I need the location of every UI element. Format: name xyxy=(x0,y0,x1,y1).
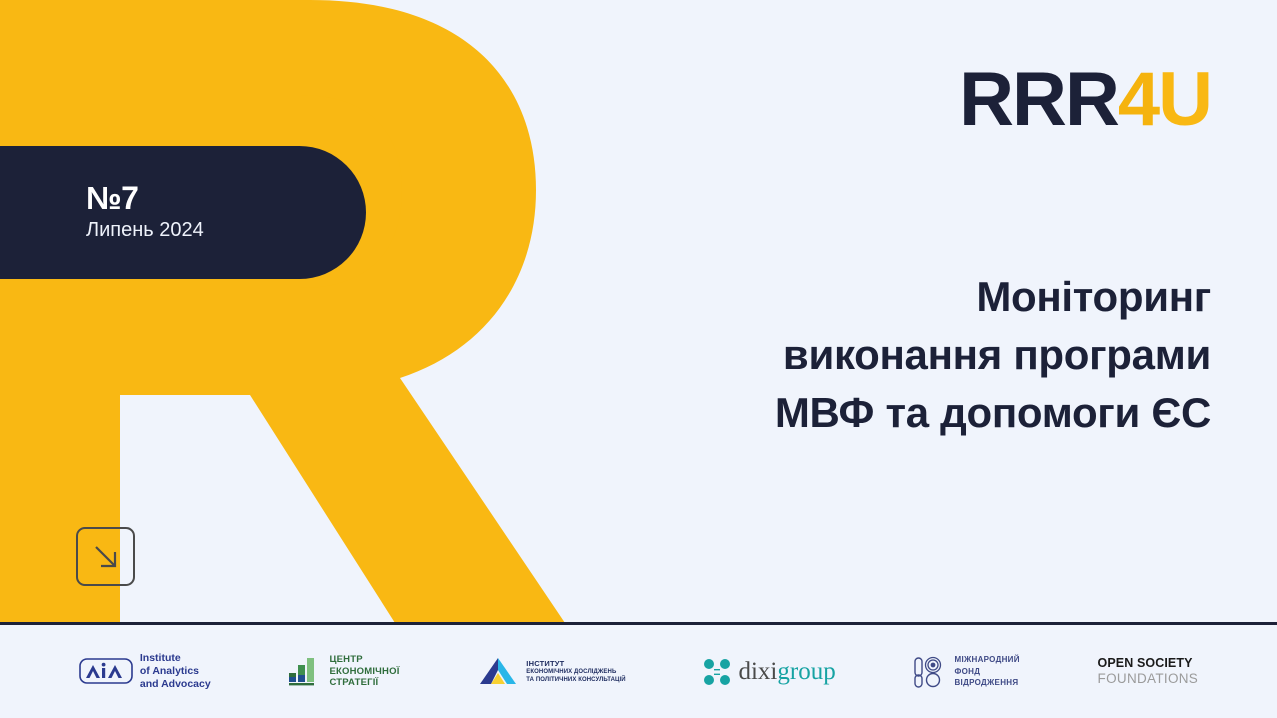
aia-monogram-icon xyxy=(79,656,133,686)
logo-ces-line-2: ЕКОНОМІЧНОЇ xyxy=(329,666,399,678)
scroll-down-button[interactable] xyxy=(76,527,135,586)
logo-osf-text: OPEN SOCIETY FOUNDATIONS xyxy=(1098,656,1199,688)
logo-dixigroup[interactable]: dixigroup xyxy=(703,658,835,686)
logo-dixigroup-word-group: group xyxy=(777,658,835,685)
issue-date: Липень 2024 xyxy=(86,217,366,243)
logo-aia-line-1: Institute xyxy=(140,652,211,665)
logo-ier-line-2: ТА ПОЛІТИЧНИХ КОНСУЛЬТАЦІЙ xyxy=(526,676,625,684)
arrow-down-right-icon xyxy=(91,542,121,572)
logo-irf-text: МІЖНАРОДНИЙ ФОНД ВІДРОДЖЕННЯ xyxy=(954,654,1019,689)
logo-ces-line-3: СТРАТЕГІЇ xyxy=(329,677,399,689)
issue-badge: №7 Липень 2024 xyxy=(0,146,366,279)
logo-ces-text: ЦЕНТР ЕКОНОМІЧНОЇ СТРАТЕГІЇ xyxy=(329,654,399,689)
brand-logo-u: U xyxy=(1158,57,1211,142)
logo-aia[interactable]: Institute of Analytics and Advocacy xyxy=(79,652,211,690)
logo-ier[interactable]: ІНСТИТУТ ЕКОНОМІЧНИХ ДОСЛІДЖЕНЬ ТА ПОЛІТ… xyxy=(477,655,625,689)
logo-ces[interactable]: ЦЕНТР ЕКОНОМІЧНОЇ СТРАТЕГІЇ xyxy=(288,654,399,689)
irf-spiral-icon xyxy=(913,655,947,689)
logo-irf[interactable]: МІЖНАРОДНИЙ ФОНД ВІДРОДЖЕННЯ xyxy=(913,654,1019,689)
title-slide: №7 Липень 2024 RRR4U Моніторинг виконанн… xyxy=(0,0,1277,718)
logo-aia-line-2: of Analytics xyxy=(140,665,211,678)
bar-chart-icon xyxy=(288,655,322,687)
logo-aia-text: Institute of Analytics and Advocacy xyxy=(140,652,211,690)
logo-ces-line-1: ЦЕНТР xyxy=(329,654,399,666)
logo-osf-line-1: OPEN SOCIETY xyxy=(1098,656,1199,671)
page-title-line-3: МВФ та допомоги ЄС xyxy=(611,384,1211,442)
page-title-line-2: виконання програми xyxy=(611,326,1211,384)
logo-dixigroup-text: dixigroup xyxy=(738,659,835,684)
issue-number: №7 xyxy=(86,182,366,216)
logo-irf-line-2: ФОНД xyxy=(954,666,1019,678)
logo-irf-line-1: МІЖНАРОДНИЙ xyxy=(954,654,1019,666)
brand-logo: RRR4U xyxy=(959,62,1211,138)
partner-logos-bar: Institute of Analytics and Advocacy ЦЕНТ… xyxy=(0,625,1277,718)
logo-osf[interactable]: OPEN SOCIETY FOUNDATIONS xyxy=(1098,656,1199,688)
brand-logo-rrr: RRR xyxy=(959,57,1118,142)
logo-ier-text: ІНСТИТУТ ЕКОНОМІЧНИХ ДОСЛІДЖЕНЬ ТА ПОЛІТ… xyxy=(526,659,625,684)
logo-ier-line-1: ЕКОНОМІЧНИХ ДОСЛІДЖЕНЬ xyxy=(526,668,625,676)
dixi-nodes-icon xyxy=(703,658,731,686)
triangle-mountain-icon xyxy=(477,655,519,689)
logo-ier-title: ІНСТИТУТ xyxy=(526,659,625,668)
page-title: Моніторинг виконання програми МВФ та доп… xyxy=(611,268,1211,442)
logo-irf-line-3: ВІДРОДЖЕННЯ xyxy=(954,677,1019,689)
logo-aia-line-3: and Advocacy xyxy=(140,678,211,691)
brand-logo-four: 4 xyxy=(1118,57,1158,142)
logo-dixigroup-word-dixi: dixi xyxy=(738,658,777,685)
page-title-line-1: Моніторинг xyxy=(611,268,1211,326)
logo-osf-line-2: FOUNDATIONS xyxy=(1098,671,1199,687)
